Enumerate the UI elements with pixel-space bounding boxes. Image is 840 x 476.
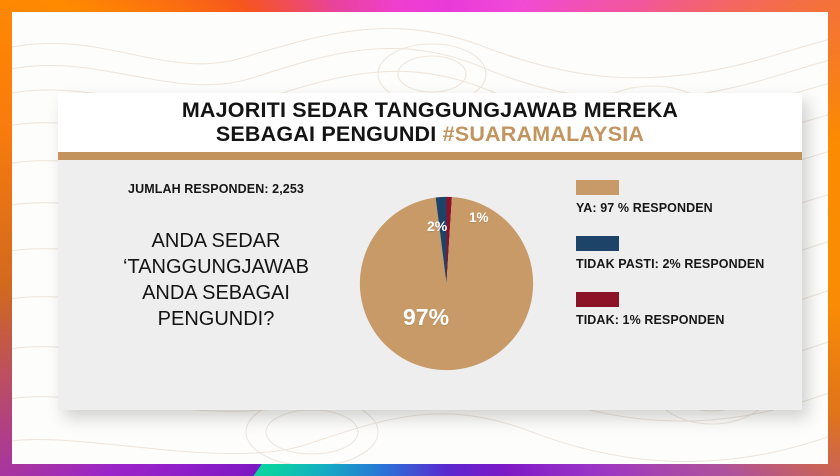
pie-slice-label-tidak-pasti: 1% [469,210,489,225]
legend-tidak-label: TIDAK: 1% RESPONDEN [576,313,791,327]
poster-canvas: MAJORITI SEDAR TANGGUNGJAWAB MEREKA SEBA… [12,12,828,464]
card-header: MAJORITI SEDAR TANGGUNGJAWAB MEREKA SEBA… [58,93,802,152]
gradient-frame: MAJORITI SEDAR TANGGUNGJAWAB MEREKA SEBA… [0,0,840,476]
title-hashtag: #SUARAMALAYSIA [443,122,645,146]
legend-tidak: TIDAK: 1% RESPONDEN [576,292,791,327]
title-line-2: SEBAGAI PENGUNDI #SUARAMALAYSIA [182,123,678,147]
title-line-1: MAJORITI SEDAR TANGGUNGJAWAB MEREKA [182,99,678,123]
legend-ya: YA: 97 % RESPONDEN [576,180,791,215]
gold-divider-bar [58,152,802,160]
question-line-2: ‘TANGGUNGJAWAB [76,254,356,280]
pie-chart: 97% 2% 1% [359,196,534,371]
title-line-2-text: SEBAGAI PENGUNDI [216,122,443,146]
card-body: JUMLAH RESPONDEN: 2,253 ANDA SEDAR ‘TANG… [58,160,802,410]
legend-ya-swatch [576,180,619,195]
chart-legend: YA: 97 % RESPONDENTIDAK PASTI: 2% RESPON… [576,180,791,348]
question-line-4: PENGUNDI? [76,306,356,332]
legend-tidak-pasti-label: TIDAK PASTI: 2% RESPONDEN [576,257,791,271]
legend-tidak-pasti-swatch [576,236,619,251]
pie-slice-label-tidak: 2% [427,218,447,234]
legend-tidak-swatch [576,292,619,307]
survey-question: ANDA SEDAR ‘TANGGUNGJAWAB ANDA SEBAGAI P… [76,228,356,332]
legend-tidak-pasti: TIDAK PASTI: 2% RESPONDEN [576,236,791,271]
pie-slice-label-ya: 97% [403,304,449,331]
question-line-3: ANDA SEBAGAI [76,280,356,306]
legend-ya-label: YA: 97 % RESPONDEN [576,201,791,215]
question-line-1: ANDA SEDAR [76,228,356,254]
page-title: MAJORITI SEDAR TANGGUNGJAWAB MEREKA SEBA… [182,99,678,146]
respondents-count-label: JUMLAH RESPONDEN: 2,253 [96,182,336,196]
infographic-card: MAJORITI SEDAR TANGGUNGJAWAB MEREKA SEBA… [58,93,802,410]
